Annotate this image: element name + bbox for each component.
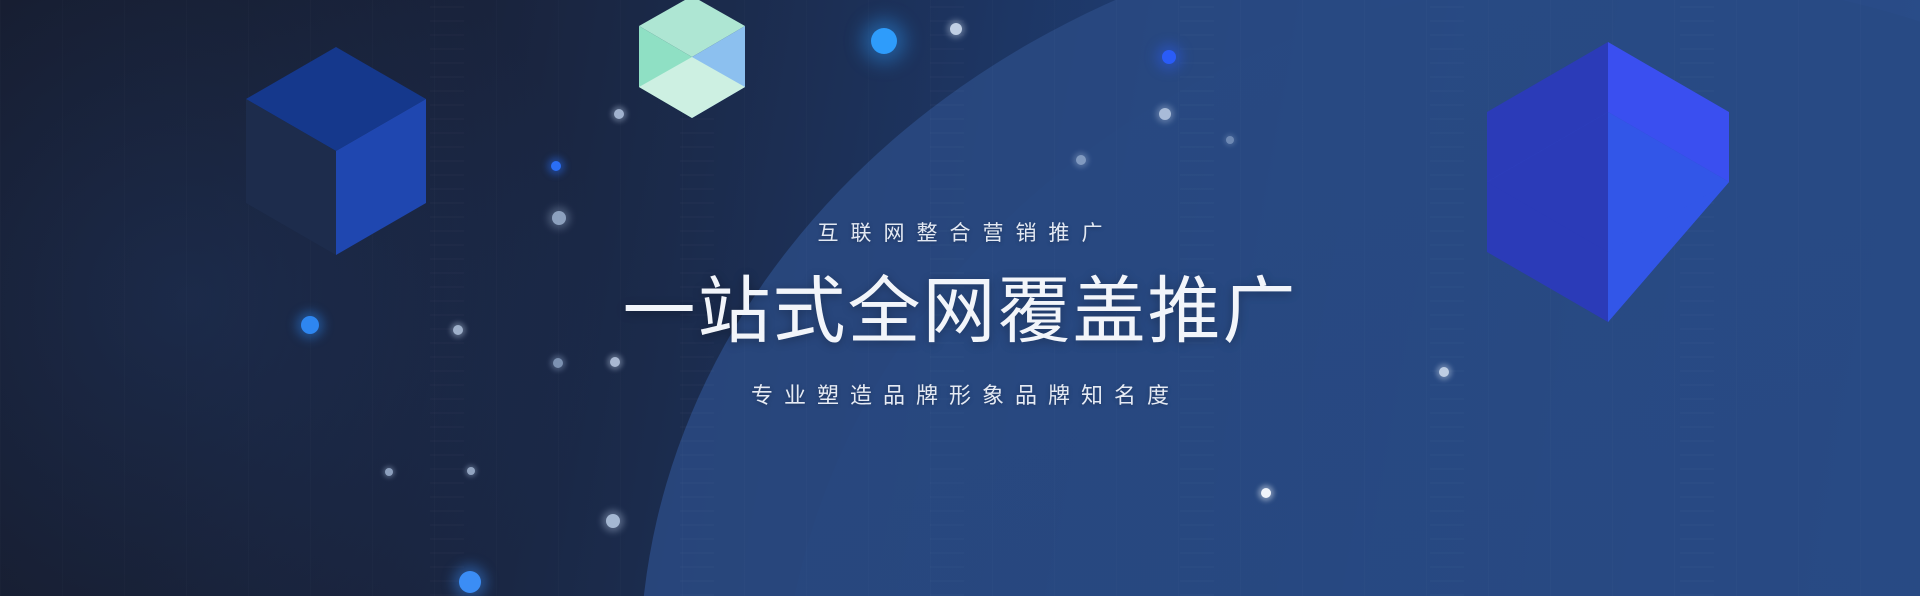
hero-banner: 互联网整合营销推广 一站式全网覆盖推广 专业塑造品牌形象品牌知名度 bbox=[0, 0, 1920, 596]
hero-headline: 一站式全网覆盖推广 bbox=[623, 274, 1298, 351]
hero-text-block: 互联网整合营销推广 一站式全网覆盖推广 专业塑造品牌形象品牌知名度 bbox=[0, 0, 1920, 596]
hero-eyebrow: 互联网整合营销推广 bbox=[806, 223, 1115, 244]
hero-subline: 专业塑造品牌形象品牌知名度 bbox=[740, 385, 1180, 407]
